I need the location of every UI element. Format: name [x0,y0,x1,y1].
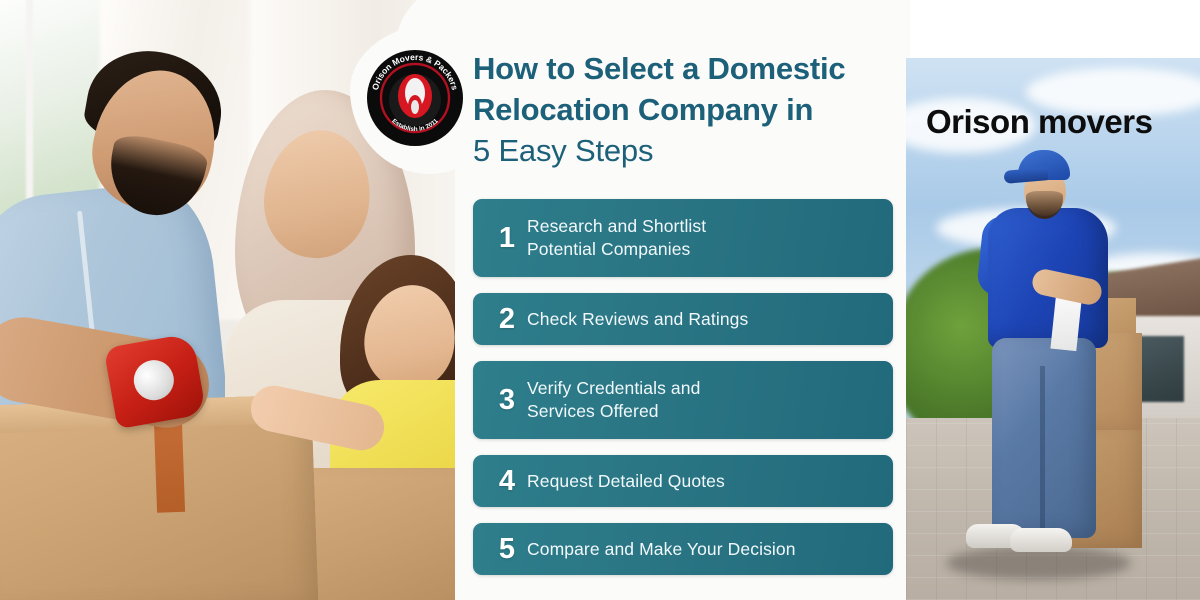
title-line-1: How to Select a Domestic [473,48,933,89]
title-line-2: Relocation Company in [473,89,933,130]
step-item-5[interactable]: 5 Compare and Make Your Decision [473,523,893,575]
packing-tape-strip [154,417,185,513]
mover-jeans [992,338,1096,538]
step-label-5: Compare and Make Your Decision [527,538,796,561]
step-item-3[interactable]: 3 Verify Credentials and Services Offere… [473,361,893,439]
title-line-3: 5 Easy Steps [473,130,933,171]
logo-flame-core [411,100,419,114]
step-label-3: Verify Credentials and Services Offered [527,377,700,423]
page-title: How to Select a Domestic Relocation Comp… [473,48,933,171]
mover-with-boxes-photo: Orison movers [906,58,1200,600]
title-bold-part-1: Select a Domestic [584,51,846,86]
infographic-canvas: Orison Movers & Packers Establish in 201… [0,0,1200,600]
house-window [1138,336,1184,402]
step-label-4: Request Detailed Quotes [527,470,725,493]
step-label-1: Research and Shortlist Potential Compani… [527,215,706,261]
step-label-2: Check Reviews and Ratings [527,308,748,331]
step-number-2: 2 [487,305,527,334]
mover-shoe-right [1010,528,1072,552]
step-item-2[interactable]: 2 Check Reviews and Ratings [473,293,893,345]
title-light-part: How to [473,51,584,86]
orison-movers-logo: Orison Movers & Packers Establish in 201… [365,48,465,148]
step-number-5: 5 [487,535,527,564]
brand-overlay-text: Orison movers [926,103,1152,141]
step-item-4[interactable]: 4 Request Detailed Quotes [473,455,893,507]
steps-list: 1 Research and Shortlist Potential Compa… [473,199,893,591]
step-item-1[interactable]: 1 Research and Shortlist Potential Compa… [473,199,893,277]
step-number-1: 1 [487,224,527,253]
step-number-3: 3 [487,386,527,415]
step-number-4: 4 [487,467,527,496]
tape-dispenser-icon [104,333,207,429]
